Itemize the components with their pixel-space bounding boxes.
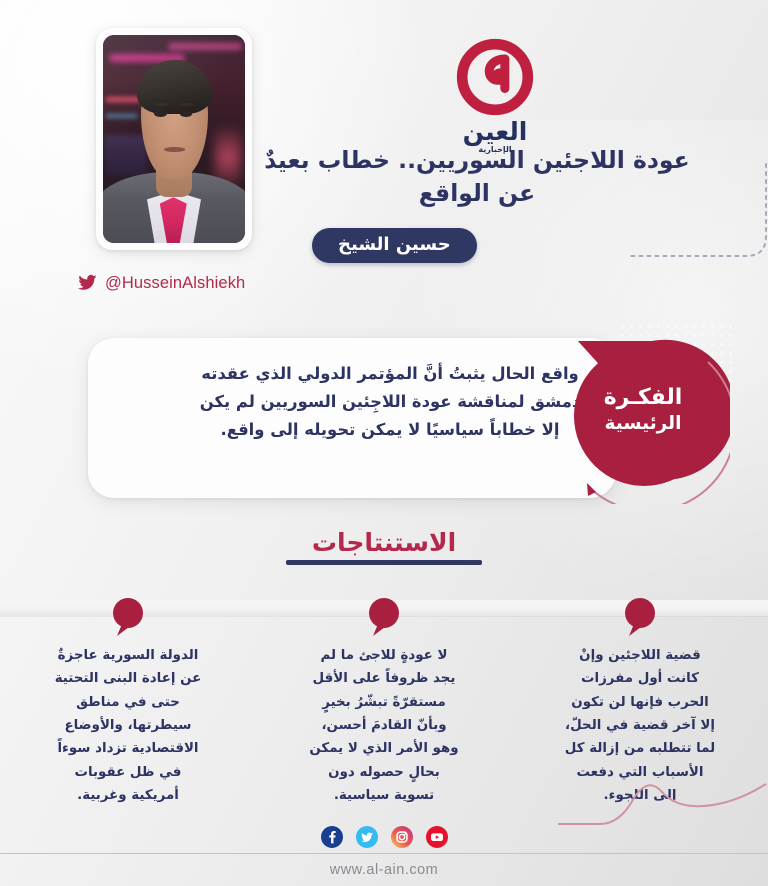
twitter-handle[interactable]: @HusseinAlshiekh [76, 270, 245, 296]
page-title: عودة اللاجئين السوريين.. خطاب بعيدٌ عن ا… [262, 144, 692, 211]
instagram-icon[interactable] [391, 826, 413, 848]
twitter-handle-text: @HusseinAlshiekh [105, 274, 245, 293]
main-idea-section: واقع الحال يثبتُ أنَّ المؤتمر الدولي الذ… [0, 318, 768, 528]
header-section: @HusseinAlshiekh العين الإخبارية عو [0, 0, 768, 318]
facebook-icon[interactable] [321, 826, 343, 848]
footer-divider [0, 853, 768, 854]
al-ain-logo-icon [454, 36, 536, 118]
social-links [0, 826, 768, 848]
conclusions-heading-underline [286, 560, 482, 565]
badge-line-1: الفكـرة [556, 384, 730, 412]
badge-line-2: الرئيسية [556, 412, 730, 436]
main-idea-card: واقع الحال يثبتُ أنَّ المؤتمر الدولي الذ… [88, 338, 616, 498]
conclusion-text: لا عودةٍ للاجئ ما لم يجد ظروفاً على الأق… [256, 644, 512, 807]
speech-bubble-marker-icon [365, 596, 403, 638]
brand-name: العين [438, 119, 552, 144]
main-idea-text: واقع الحال يثبتُ أنَّ المؤتمر الدولي الذ… [190, 360, 590, 445]
twitter-bird-icon [76, 272, 98, 294]
youtube-icon[interactable] [426, 826, 448, 848]
main-idea-badge-label: الفكـرة الرئيسية [556, 384, 730, 436]
main-idea-badge: الفكـرة الرئيسية [556, 338, 730, 504]
author-name-badge: حسين الشيخ [312, 228, 477, 263]
conclusion-text: الدولة السورية عاجزةٌ عن إعادة البنى الت… [0, 644, 256, 807]
speech-bubble-marker-icon [109, 596, 147, 638]
brand-logo: العين الإخبارية [438, 36, 552, 154]
infographic-root: @HusseinAlshiekh العين الإخبارية عو [0, 0, 768, 886]
wave-decoration [558, 774, 768, 832]
footer-url[interactable]: www.al-ain.com [0, 862, 768, 878]
author-portrait [103, 35, 245, 243]
conclusions-heading-text: الاستنتاجات [312, 528, 456, 557]
conclusion-item-2: لا عودةٍ للاجئ ما لم يجد ظروفاً على الأق… [256, 596, 512, 826]
conclusion-item-1: الدولة السورية عاجزةٌ عن إعادة البنى الت… [0, 596, 256, 826]
twitter-icon[interactable] [356, 826, 378, 848]
conclusions-heading: الاستنتاجات [0, 528, 768, 565]
speech-bubble-marker-icon [621, 596, 659, 638]
author-portrait-frame [96, 28, 252, 250]
